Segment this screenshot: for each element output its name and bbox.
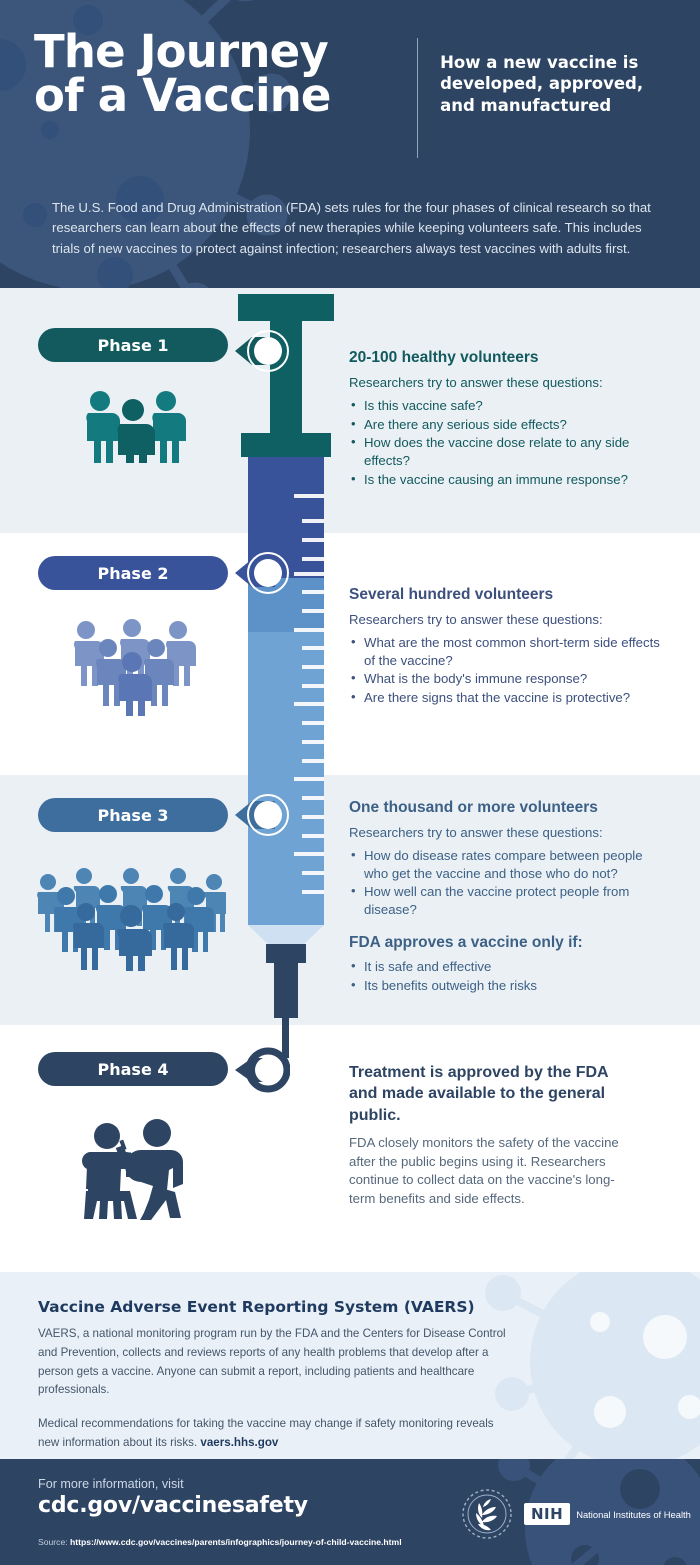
footer-url[interactable]: cdc.gov/vaccinesafety bbox=[38, 1493, 458, 1518]
vaers-link[interactable]: vaers.hhs.gov bbox=[200, 1436, 278, 1449]
phase-4-body: FDA closely monitors the safety of the v… bbox=[349, 1134, 619, 1209]
syringe-illustration bbox=[236, 288, 336, 1058]
phase-4-heading: Treatment is approved by the FDA and mad… bbox=[349, 1062, 619, 1126]
crowd-icon bbox=[36, 868, 226, 971]
phase-1-heading: 20-100 healthy volunteers bbox=[349, 348, 667, 368]
footer-source-url[interactable]: https://www.cdc.gov/vaccines/parents/inf… bbox=[70, 1537, 402, 1547]
phase-2-text-block: Several hundred volunteers Researchers t… bbox=[349, 585, 667, 708]
vaers-section: Vaccine Adverse Event Reporting System (… bbox=[0, 1272, 700, 1459]
title-line-2: of a Vaccine bbox=[34, 74, 417, 118]
agency-logos: NIH National Institutes of Health bbox=[460, 1487, 691, 1541]
infographic-page: The Journey of a Vaccine How a new vacci… bbox=[0, 0, 700, 1565]
list-item: Its benefits outweigh the risks bbox=[349, 977, 667, 995]
phase-4-text-block: Treatment is approved by the FDA and mad… bbox=[349, 1062, 619, 1209]
footer-more-info-label: For more information, visit bbox=[38, 1477, 458, 1491]
list-item: How well can the vaccine protect people … bbox=[349, 883, 667, 918]
vaers-title: Vaccine Adverse Event Reporting System (… bbox=[38, 1298, 666, 1316]
page-subtitle: How a new vaccine is developed, approved… bbox=[440, 30, 666, 116]
footer-source-label: Source: bbox=[38, 1537, 70, 1547]
list-item: Are there any serious side effects? bbox=[349, 416, 667, 434]
phase-3-text-block: One thousand or more volunteers Research… bbox=[349, 798, 667, 995]
syringe-needle-icon bbox=[266, 944, 306, 1058]
list-item: Are there signs that the vaccine is prot… bbox=[349, 689, 667, 707]
syringe-barrel-icon bbox=[248, 457, 324, 949]
hhs-seal-icon bbox=[460, 1487, 514, 1541]
phase-2-badge[interactable]: Phase 2 bbox=[38, 556, 228, 590]
fda-approval-list: It is safe and effective Its benefits ou… bbox=[349, 958, 667, 994]
phase-1-badge[interactable]: Phase 1 bbox=[38, 328, 228, 362]
vaccination-scene-icon bbox=[75, 1118, 205, 1223]
title-line-1: The Journey bbox=[34, 30, 417, 74]
title-divider bbox=[417, 38, 418, 158]
header-banner: The Journey of a Vaccine How a new vacci… bbox=[0, 0, 700, 288]
footer-banner: For more information, visit cdc.gov/vacc… bbox=[0, 1459, 700, 1565]
footer-source: Source: https://www.cdc.gov/vaccines/par… bbox=[38, 1537, 402, 1547]
list-item: How does the vaccine dose relate to any … bbox=[349, 434, 667, 469]
header-intro-paragraph: The U.S. Food and Drug Administration (F… bbox=[34, 198, 654, 259]
phase-1-text-block: 20-100 healthy volunteers Researchers tr… bbox=[349, 348, 667, 489]
list-item: What is the body's immune response? bbox=[349, 670, 667, 688]
phase-1-bullet-list: Is this vaccine safe? Are there any seri… bbox=[349, 397, 667, 488]
nih-logo-mark: NIH bbox=[524, 1503, 570, 1525]
list-item: How do disease rates compare between peo… bbox=[349, 847, 667, 882]
list-item: It is safe and effective bbox=[349, 958, 667, 976]
syringe-plunger-icon bbox=[238, 294, 334, 457]
three-people-icon bbox=[78, 388, 188, 463]
list-item: Is this vaccine safe? bbox=[349, 397, 667, 415]
several-people-icon bbox=[68, 618, 196, 716]
fda-approval-heading: FDA approves a vaccine only if: bbox=[349, 933, 667, 953]
vaers-paragraph-2-wrapper: Medical recommendations for taking the v… bbox=[38, 1415, 508, 1453]
list-item: What are the most common short-term side… bbox=[349, 634, 667, 669]
phase-1-subhead: Researchers try to answer these question… bbox=[349, 374, 667, 392]
list-item: Is the vaccine causing an immune respons… bbox=[349, 471, 667, 489]
phase-2-bullet-list: What are the most common short-term side… bbox=[349, 634, 667, 706]
page-title: The Journey of a Vaccine bbox=[34, 30, 417, 118]
phase-4-badge[interactable]: Phase 4 bbox=[38, 1052, 228, 1086]
nih-logo-name: National Institutes of Health bbox=[576, 1509, 691, 1520]
phase-3-heading: One thousand or more volunteers bbox=[349, 798, 667, 818]
phase-3-bullet-list: How do disease rates compare between peo… bbox=[349, 847, 667, 918]
vaers-paragraph-1: VAERS, a national monitoring program run… bbox=[38, 1325, 508, 1400]
phase-3-subhead: Researchers try to answer these question… bbox=[349, 824, 667, 842]
phase-2-heading: Several hundred volunteers bbox=[349, 585, 667, 605]
phase-3-badge[interactable]: Phase 3 bbox=[38, 798, 228, 832]
phase-2-subhead: Researchers try to answer these question… bbox=[349, 611, 667, 629]
